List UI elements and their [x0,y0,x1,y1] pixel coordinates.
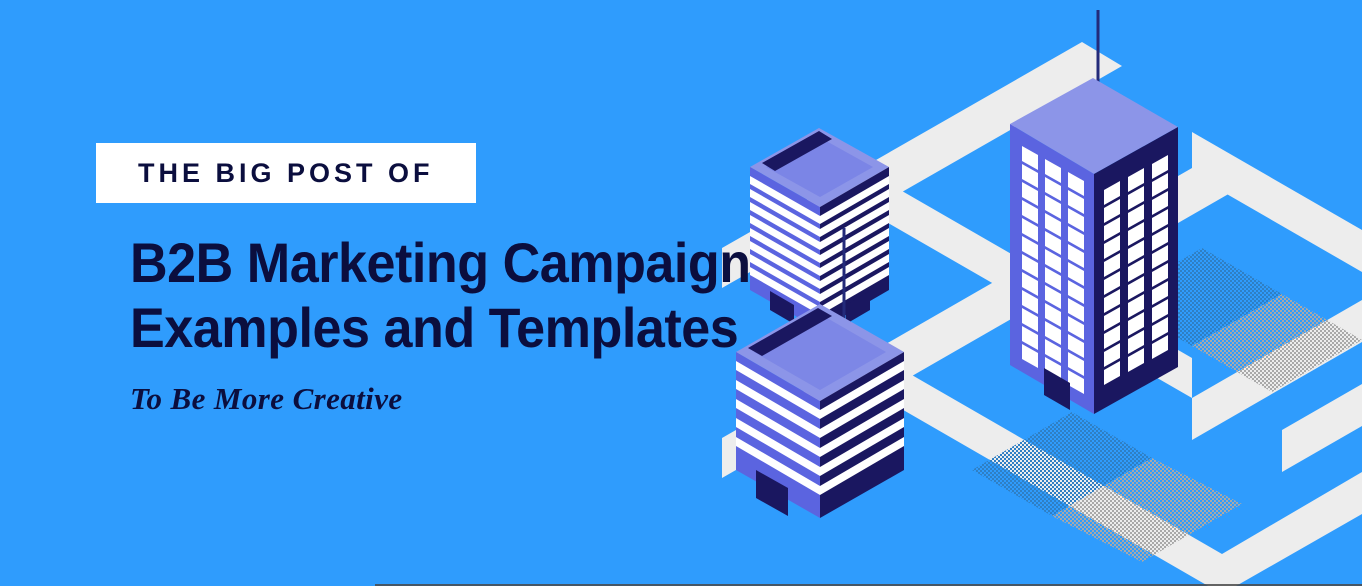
page-title: B2B Marketing Campaign Examples and Temp… [130,231,805,361]
page-subtitle: To Be More Creative [130,383,856,414]
hero-banner: THE BIG POST OF B2B Marketing Campaign E… [0,0,1362,586]
eyebrow-label: THE BIG POST OF [138,160,434,187]
eyebrow-badge: THE BIG POST OF [96,143,476,203]
hero-text-block: THE BIG POST OF B2B Marketing Campaign E… [96,143,856,414]
